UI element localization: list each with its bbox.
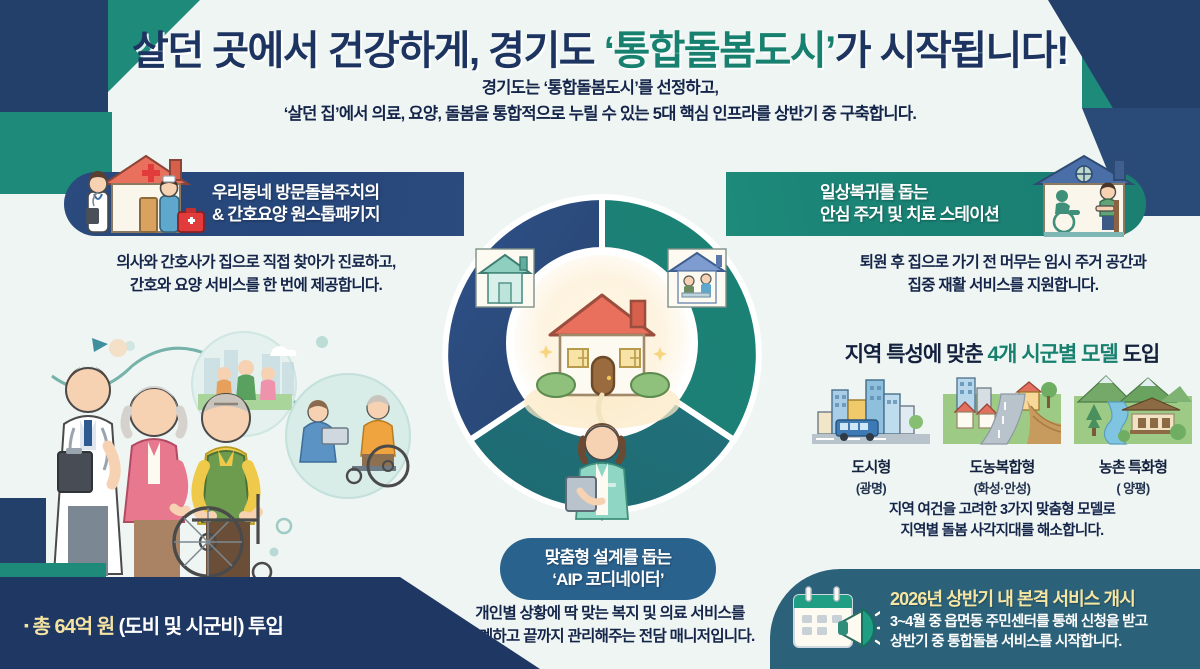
badge-aip-line2: ‘AIP 코디네이터’ [545,569,672,591]
city-skyline-icon [812,372,930,446]
countryside-icon [1074,372,1192,446]
badge-safe-housing-line1: 일상복귀를 돕는 [820,182,999,204]
badge-aip-line1: 맞춤형 설계를 돕는 [545,547,672,569]
footer-budget-bullet: ▪ [24,617,28,633]
footer-schedule-line2: 상반기 중 통합돌봄 서비스를 시작합니다. [890,633,1147,653]
infographic-poster: 살던 곳에서 건강하게, 경기도 ‘통합돌봄도시’가 시작됩니다! 경기도는 ‘… [0,0,1200,669]
caption-safe-housing: 퇴원 후 집으로 가기 전 머무는 임시 주거 공간과 집중 재활 서비스를 지… [838,252,1168,297]
page-title-part1: 살던 곳에서 건강하게, 경기도 [132,29,604,73]
model-name-mixed: 도농복합형 [943,456,1061,477]
calendar-megaphone-icon [788,583,880,655]
doctor-and-elderly-couple-illustration [22,316,442,586]
doctor-figure [54,366,122,576]
rural-urban-mix-icon [943,372,1061,446]
page-title-part2: 가 시작됩니다! [835,29,1068,73]
nurse-wheelchair-consult-bubble [286,374,410,498]
badge-safe-housing-line2: 안심 주거 및 치료 스테이션 [820,204,999,226]
badge-visiting-care-line2: & 간호요양 원스톱패키지 [212,204,380,226]
model-city-countryside: ( 양평) [1074,478,1192,497]
models-section-note: 지역 여건을 고려한 3가지 맞춤형 모델로 지역별 돌봄 사각지대를 해소합니… [812,500,1192,542]
caption-safe-housing-line1: 퇴원 후 집으로 가기 전 머무는 임시 주거 공간과 [838,252,1168,275]
caption-visiting-care: 의사와 간호사가 집으로 직접 찾아가 진료하고, 간호와 요양 서비스를 한 … [96,252,416,297]
caption-visiting-care-line2: 간호와 요양 서비스를 한 번에 제공합니다. [96,275,416,298]
models-note-line2: 지역별 돌봄 사각지대를 해소합니다. [812,521,1192,542]
models-note-line1: 지역 여건을 고려한 3가지 맞춤형 모델로 [812,500,1192,521]
badge-visiting-care-line1: 우리동네 방문돌봄주치의 [212,182,380,204]
subtitle-line-2: ‘살던 집’에서 의료, 요양, 돌봄을 통합적으로 누릴 수 있는 5대 핵심… [0,102,1200,128]
doctor-nurse-house-icon [78,146,218,242]
model-card-countryside[interactable]: 농촌 특화형 ( 양평) [1074,372,1192,497]
subtitle-line-1: 경기도는 ‘통합돌봄도시’를 선정하고, [0,76,1200,102]
footer-budget-text: ▪ 총 64억 원 (도비 및 시군비) 투입 [24,610,283,639]
page-title: 살던 곳에서 건강하게, 경기도 ‘통합돌봄도시’가 시작됩니다! [0,18,1200,76]
page-subtitle: 경기도는 ‘통합돌봄도시’를 선정하고, ‘살던 집’에서 의료, 요양, 돌봄… [0,76,1200,127]
footer-schedule-headline: 2026년 상반기 내 본격 서비스 개시 [890,585,1147,611]
caption-safe-housing-line2: 집중 재활 서비스를 지원합니다. [838,275,1168,298]
model-city-urban: (광명) [812,478,930,497]
rehab-station-house-icon [1022,148,1154,244]
footer-schedule-content: 2026년 상반기 내 본격 서비스 개시 3~4월 중 읍면동 주민센터를 통… [770,569,1200,669]
models-title-pre: 지역 특성에 맞춘 [845,343,988,366]
models-title-number: 4개 시군별 모델 [987,343,1117,366]
models-section-title: 지역 특성에 맞춘 4개 시군별 모델 도입 [812,338,1192,368]
badge-aip-coordinator: 맞춤형 설계를 돕는 ‘AIP 코디네이터’ [500,538,716,600]
caregiver-house-icon [668,249,726,307]
caption-visiting-care-line1: 의사와 간호사가 집으로 직접 찾아가 진료하고, [96,252,416,275]
model-card-mixed[interactable]: 도농복합형 (화성·안성) [943,372,1061,497]
model-city-mixed: (화성·안성) [943,478,1061,497]
model-name-urban: 도시형 [812,456,930,477]
page-title-highlight: ‘통합돌봄도시’ [604,29,835,73]
model-name-countryside: 농촌 특화형 [1074,456,1192,477]
caption-aip-line1: 개인별 상황에 딱 맞는 복지 및 의료 서비스를 [440,603,780,626]
footer-budget-rest: (도비 및 시군비) 투입 [114,616,283,638]
central-care-hub [432,185,772,525]
footer-schedule-line1: 3~4월 중 읍면동 주민센터를 통해 신청을 받고 [890,613,1147,633]
models-title-post: 도입 [1118,343,1159,366]
footer-budget-amount: 총 64억 원 [33,616,115,638]
models-row: 도시형 (광명) 도농복합형 (화 [812,372,1192,497]
teal-house-icon [476,249,534,307]
model-card-urban[interactable]: 도시형 (광명) [812,372,930,497]
